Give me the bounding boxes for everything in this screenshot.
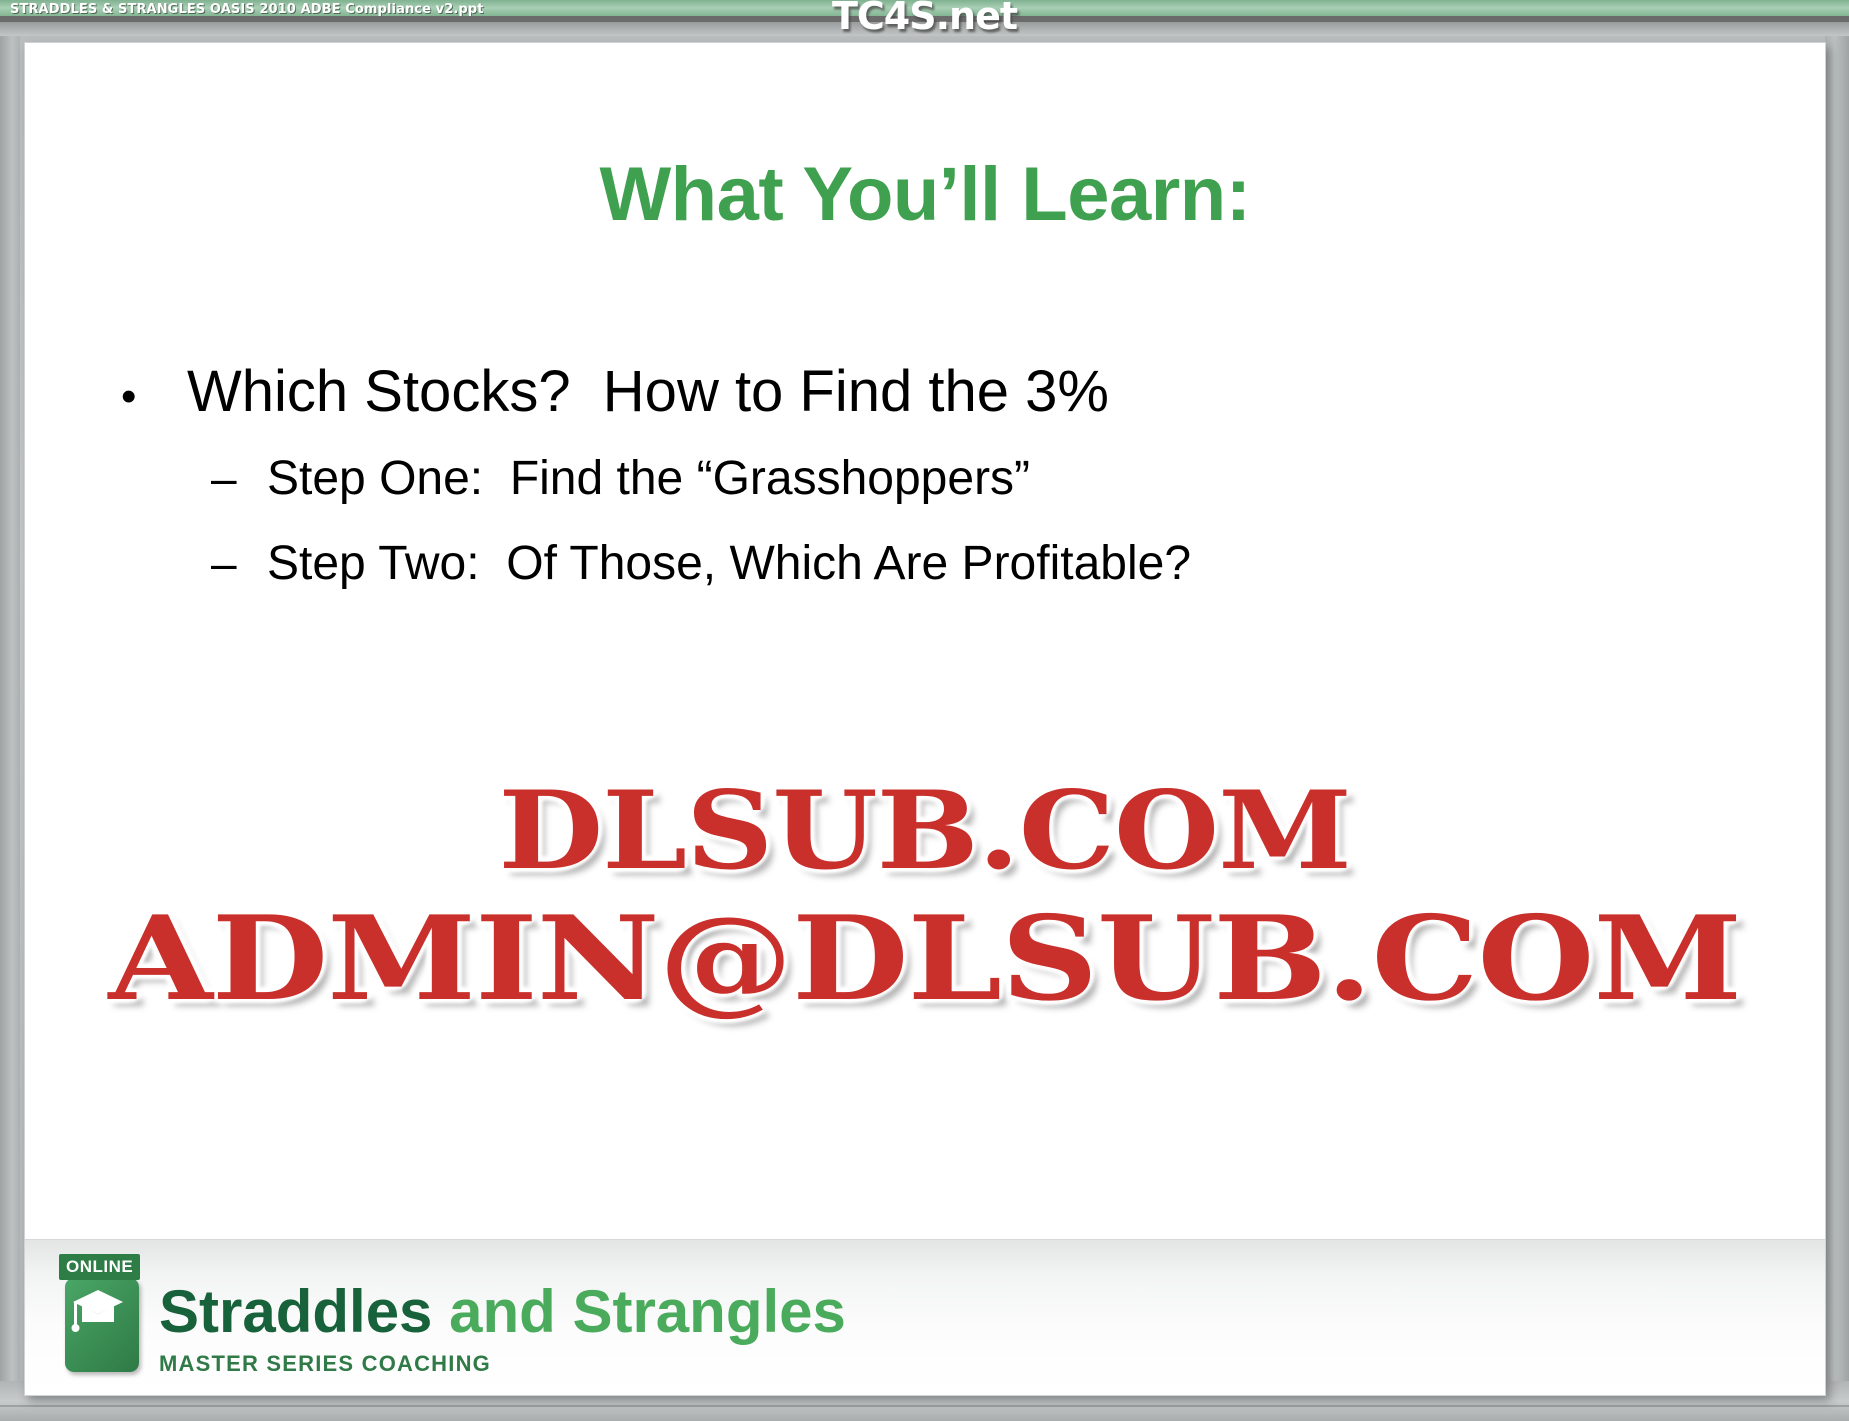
slide-footer: ONLINE Straddles and Strangles [25,1239,1825,1395]
watermark-email: ADMIN@DLSUB.COM [25,891,1825,1027]
bullet-marker: – [211,540,267,586]
watermark-email-text: ADMIN@DLSUB.COM [109,891,1742,1027]
brand-logo: ONLINE Straddles and Strangles [55,1254,846,1377]
window-chrome-bottom-line [0,1405,1849,1407]
bullet-marker: – [211,455,267,501]
graduation-cap-icon [71,1286,125,1339]
logo-tagline: MASTER SERIES COACHING [159,1351,846,1377]
window-chrome-left [0,36,20,1421]
logo-mark: ONLINE [55,1254,141,1372]
logo-name-primary: Straddles [159,1278,449,1345]
watermark-domain-text: DLSUB.COM [499,768,1352,894]
window-title: STRADDLES & STRANGLES OASIS 2010 ADBE Co… [10,2,484,17]
presentation-viewer: STRADDLES & STRANGLES OASIS 2010 ADBE Co… [0,0,1849,1421]
bullet-item-2: – Step One: Find the “Grasshoppers” [211,451,1741,506]
bullet-item-3: – Step Two: Of Those, Which Are Profitab… [211,536,1741,591]
bullet-text: Which Stocks? How to Find the 3% [187,363,1109,421]
slide-title: What You’ll Learn: [25,151,1825,238]
slide-canvas: What You’ll Learn: • Which Stocks? How t… [24,42,1826,1396]
logo-title: Straddles and Strangles [159,1282,846,1342]
logo-text: Straddles and Strangles MASTER SERIES CO… [159,1254,846,1377]
bullet-text: Step One: Find the “Grasshoppers” [267,451,1030,506]
bullet-marker: • [121,375,187,419]
site-watermark: TC4S.net [832,0,1017,38]
logo-online-badge: ONLINE [59,1254,140,1280]
window-chrome-right [1825,36,1849,1421]
bullet-item-1: • Which Stocks? How to Find the 3% [121,363,1741,421]
bullet-text: Step Two: Of Those, Which Are Profitable… [267,536,1191,591]
watermark-domain: DLSUB.COM [25,768,1825,894]
slide-body: • Which Stocks? How to Find the 3% – Ste… [121,363,1741,591]
logo-name-secondary: and Strangles [449,1278,846,1345]
